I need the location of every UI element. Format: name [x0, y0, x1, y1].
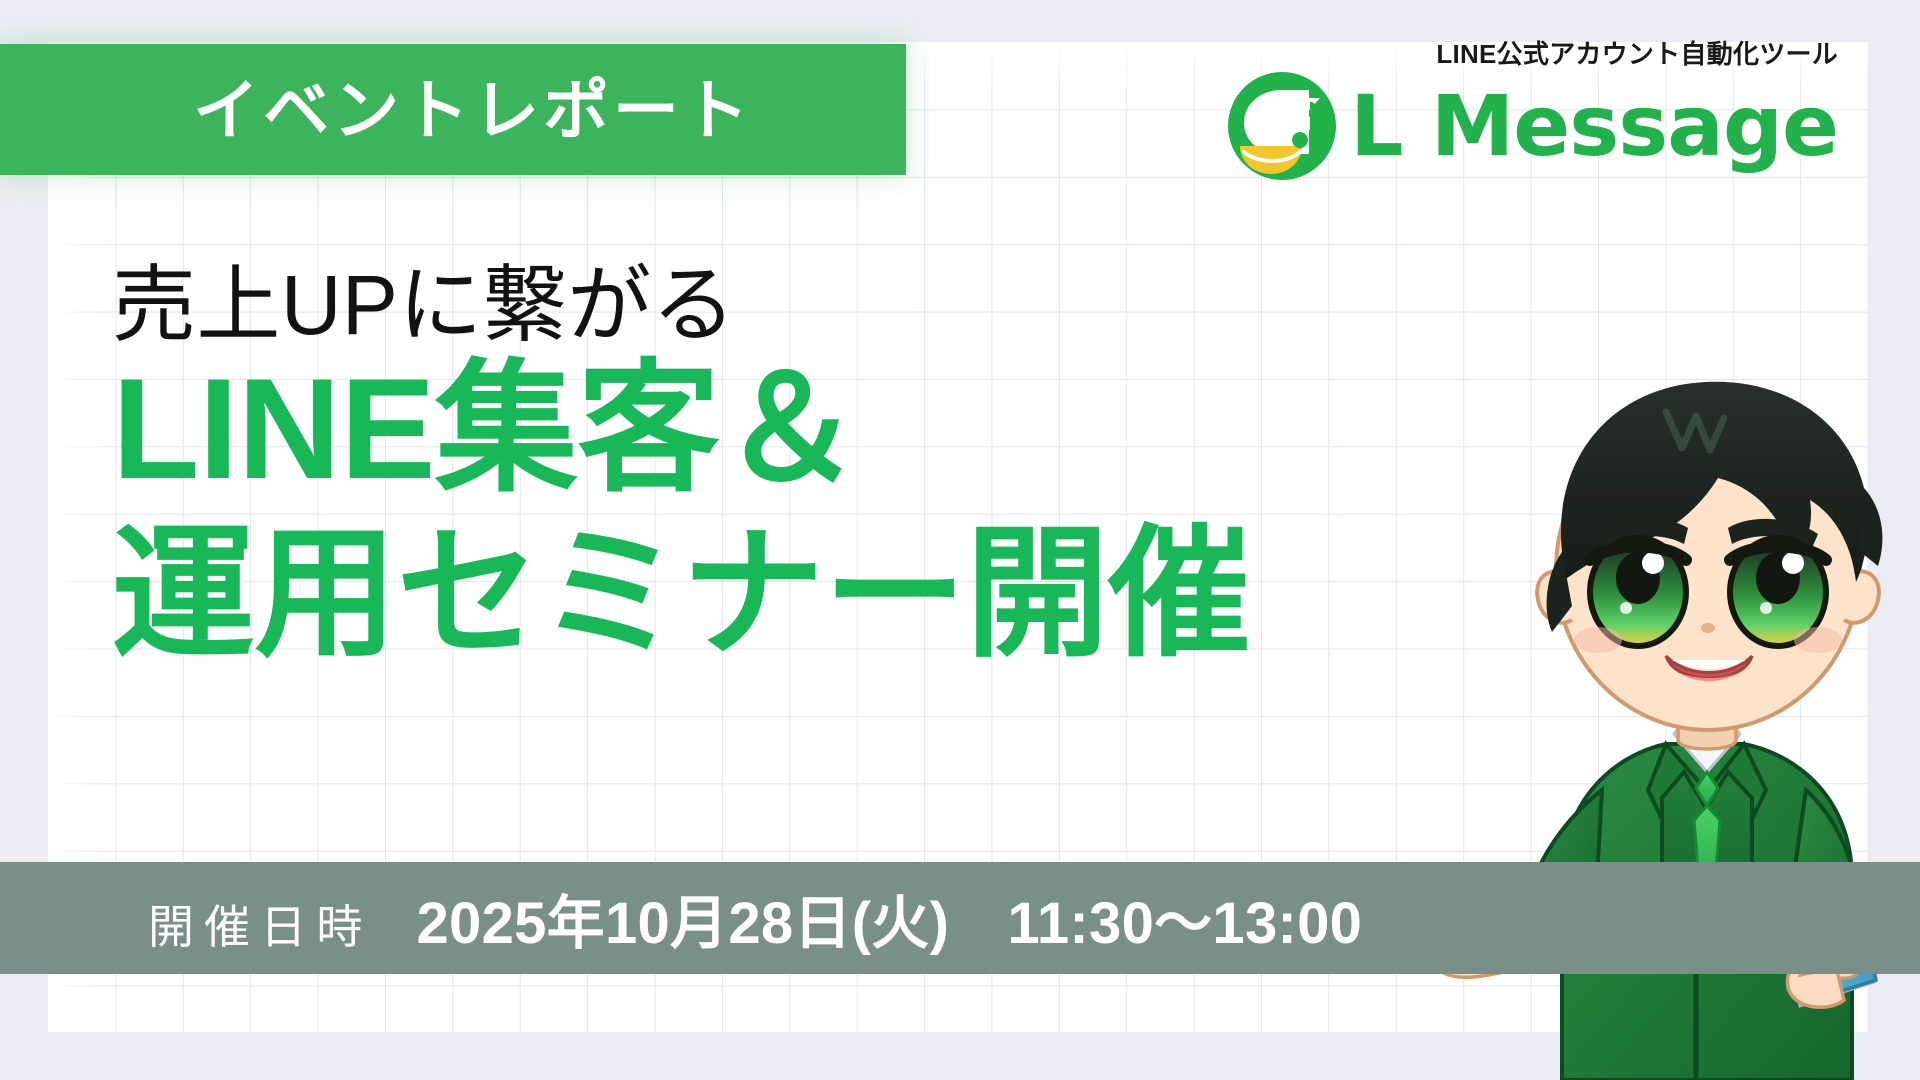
brand-wordmark: L Message	[1350, 84, 1838, 168]
l-message-bird-logo-icon	[1224, 68, 1340, 184]
event-report-banner-label: イベントレポート	[153, 77, 753, 143]
event-date-bar: 開催日時 2025年10月28日(火) 11:30〜13:00	[0, 862, 1920, 974]
brand-logo-row: L Message	[1224, 68, 1838, 184]
event-report-banner: イベントレポート	[0, 44, 906, 175]
event-date-value: 2025年10月28日(火) 11:30〜13:00	[416, 876, 1362, 960]
brand-logo-block: LINE公式アカウント自動化ツール L Message	[1222, 34, 1842, 174]
event-date-inner: 開催日時 2025年10月28日(火) 11:30〜13:00	[0, 876, 1362, 960]
headline-line-2: 運用セミナー開催	[112, 518, 1292, 672]
event-date-label: 開催日時	[148, 891, 372, 957]
brand-tagline: LINE公式アカウント自動化ツール	[1436, 34, 1838, 71]
headline-subtitle: 売上UPに繋がる	[112, 262, 1292, 349]
poster-canvas: イベントレポート LINE公式アカウント自動化ツール L Message 売上U…	[0, 0, 1920, 1080]
headline-line-1: LINE集客＆	[112, 353, 1292, 507]
headline-block: 売上UPに繋がる LINE集客＆ 運用セミナー開催	[112, 262, 1292, 672]
mascot-head	[1537, 382, 1882, 730]
